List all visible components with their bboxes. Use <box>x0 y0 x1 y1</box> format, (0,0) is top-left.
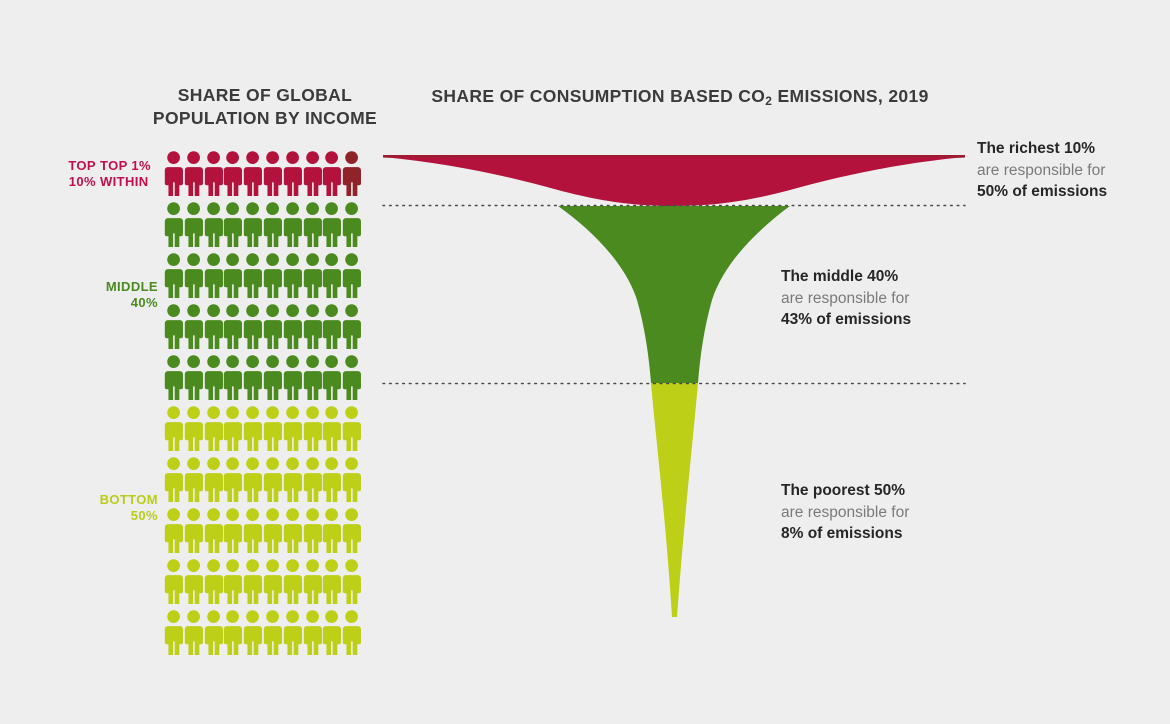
person-icon <box>242 303 262 350</box>
person-icon <box>222 558 242 605</box>
person-icon <box>302 405 322 452</box>
person-icon <box>262 558 282 605</box>
label-middle-line2: 40% <box>131 295 158 310</box>
person-icon <box>262 507 282 554</box>
person-icon <box>341 303 361 350</box>
person-icon <box>321 405 341 452</box>
annotation-poorest: The poorest 50% are responsible for 8% o… <box>781 480 981 545</box>
person-icon <box>183 303 203 350</box>
person-icon <box>321 150 341 197</box>
label-top1-line1: TOP 1% <box>100 158 151 173</box>
person-icon <box>321 252 341 299</box>
person-icon <box>222 456 242 503</box>
person-icon <box>262 354 282 401</box>
person-icon <box>341 558 361 605</box>
person-icon <box>203 405 223 452</box>
person-icon <box>203 609 223 656</box>
funnel-band-richest <box>383 155 965 206</box>
person-icon <box>282 354 302 401</box>
pictogram-row-bottom50 <box>163 456 361 503</box>
person-icon <box>242 507 262 554</box>
person-icon <box>163 252 183 299</box>
population-heading-line1: SHARE OF GLOBAL <box>178 85 352 105</box>
infographic-canvas: SHARE OF GLOBAL POPULATION BY INCOME SHA… <box>0 0 1170 724</box>
person-icon <box>341 354 361 401</box>
person-icon <box>183 405 203 452</box>
person-icon <box>282 405 302 452</box>
annotation-richest-line2: are responsible for <box>977 160 1167 182</box>
pictogram-row-bottom50 <box>163 405 361 452</box>
person-icon <box>341 201 361 248</box>
person-icon <box>242 354 262 401</box>
person-icon <box>302 354 322 401</box>
person-icon <box>321 558 341 605</box>
annotation-richest-line1: The richest 10% <box>977 138 1167 160</box>
person-icon <box>203 201 223 248</box>
person-icon-top-1-percent <box>341 150 361 197</box>
person-icon <box>321 609 341 656</box>
person-icon <box>183 609 203 656</box>
person-icon <box>163 303 183 350</box>
person-icon <box>203 354 223 401</box>
person-icon <box>262 405 282 452</box>
person-icon <box>222 303 242 350</box>
person-icon <box>282 201 302 248</box>
person-icon <box>222 609 242 656</box>
person-icon <box>282 507 302 554</box>
person-icon <box>242 252 262 299</box>
person-icon <box>163 405 183 452</box>
person-icon <box>183 252 203 299</box>
person-icon <box>203 507 223 554</box>
person-icon <box>341 507 361 554</box>
emissions-heading-suffix: EMISSIONS, 2019 <box>772 86 928 106</box>
person-icon <box>282 558 302 605</box>
co2-subscript: 2 <box>765 94 772 108</box>
annotation-middle-line3: 43% of emissions <box>781 309 981 331</box>
person-icon <box>222 201 242 248</box>
person-icon <box>242 150 262 197</box>
label-bottom-line1: BOTTOM <box>100 492 158 507</box>
label-top10-line2: 10% <box>69 174 96 189</box>
person-icon <box>341 252 361 299</box>
pictogram-row-middle40 <box>163 252 361 299</box>
label-top-1-percent-within: TOP 1% WITHIN <box>100 158 158 190</box>
pictogram-row-bottom50 <box>163 507 361 554</box>
person-icon <box>222 354 242 401</box>
annotation-richest: The richest 10% are responsible for 50% … <box>977 138 1167 203</box>
person-icon <box>242 609 262 656</box>
person-icon <box>262 150 282 197</box>
person-icon <box>203 252 223 299</box>
label-bottom-line2: 50% <box>131 508 158 523</box>
annotation-poorest-line2: are responsible for <box>781 502 981 524</box>
person-icon <box>222 507 242 554</box>
person-icon <box>321 456 341 503</box>
person-icon <box>163 558 183 605</box>
person-icon <box>203 303 223 350</box>
person-icon <box>282 609 302 656</box>
label-bottom-50-percent: BOTTOM 50% <box>48 492 158 524</box>
pictogram-row-bottom50 <box>163 609 361 656</box>
person-icon <box>282 150 302 197</box>
pictogram-row-middle40 <box>163 303 361 350</box>
person-icon <box>183 354 203 401</box>
person-icon <box>183 558 203 605</box>
person-icon <box>163 150 183 197</box>
person-icon <box>302 150 322 197</box>
person-icon <box>222 150 242 197</box>
person-icon <box>262 456 282 503</box>
pictogram-row-middle40 <box>163 354 361 401</box>
funnel-band-poorest <box>651 383 698 617</box>
person-icon <box>282 303 302 350</box>
funnel-band-richest-edge <box>383 155 965 158</box>
label-top-10-percent: TOP 10% <box>52 158 96 190</box>
person-icon <box>321 303 341 350</box>
person-icon <box>321 354 341 401</box>
population-heading: SHARE OF GLOBAL POPULATION BY INCOME <box>120 84 410 130</box>
label-top10-line1: TOP <box>68 158 96 173</box>
person-icon <box>302 507 322 554</box>
person-icon <box>302 201 322 248</box>
label-middle-40-percent: MIDDLE 40% <box>48 279 158 311</box>
annotation-poorest-line1: The poorest 50% <box>781 480 981 502</box>
label-top1-line2: WITHIN <box>100 174 149 189</box>
emissions-heading: SHARE OF CONSUMPTION BASED CO2 EMISSIONS… <box>400 85 960 110</box>
person-icon <box>203 150 223 197</box>
population-heading-line2: POPULATION BY INCOME <box>153 108 377 128</box>
person-icon <box>163 201 183 248</box>
person-icon <box>302 252 322 299</box>
pictogram-row-bottom50 <box>163 558 361 605</box>
person-icon <box>183 456 203 503</box>
label-middle-line1: MIDDLE <box>106 279 158 294</box>
person-icon <box>183 201 203 248</box>
person-icon <box>262 201 282 248</box>
funnel-band-middle <box>558 206 790 383</box>
person-icon <box>163 507 183 554</box>
person-icon <box>163 609 183 656</box>
person-icon <box>282 252 302 299</box>
person-icon <box>242 456 262 503</box>
person-icon <box>262 252 282 299</box>
person-icon <box>242 201 262 248</box>
person-icon <box>163 354 183 401</box>
person-icon <box>302 609 322 656</box>
pictogram-row-middle40 <box>163 201 361 248</box>
person-icon <box>341 405 361 452</box>
person-icon <box>282 456 302 503</box>
annotation-middle-line2: are responsible for <box>781 288 981 310</box>
person-icon <box>262 303 282 350</box>
person-icon <box>163 456 183 503</box>
population-pictogram <box>163 150 361 660</box>
person-icon <box>242 558 262 605</box>
person-icon <box>222 405 242 452</box>
pictogram-row-top10 <box>163 150 361 197</box>
person-icon <box>341 456 361 503</box>
person-icon <box>302 456 322 503</box>
annotation-richest-line3: 50% of emissions <box>977 181 1167 203</box>
annotation-poorest-line3: 8% of emissions <box>781 523 981 545</box>
person-icon <box>183 507 203 554</box>
person-icon <box>203 558 223 605</box>
person-icon <box>302 303 322 350</box>
person-icon <box>302 558 322 605</box>
person-icon <box>321 507 341 554</box>
person-icon <box>341 609 361 656</box>
annotation-middle: The middle 40% are responsible for 43% o… <box>781 266 981 331</box>
annotation-middle-line1: The middle 40% <box>781 266 981 288</box>
person-icon <box>262 609 282 656</box>
person-icon <box>203 456 223 503</box>
person-icon <box>183 150 203 197</box>
person-icon <box>321 201 341 248</box>
person-icon <box>242 405 262 452</box>
emissions-heading-prefix: SHARE OF CONSUMPTION BASED CO <box>431 86 765 106</box>
person-icon <box>222 252 242 299</box>
